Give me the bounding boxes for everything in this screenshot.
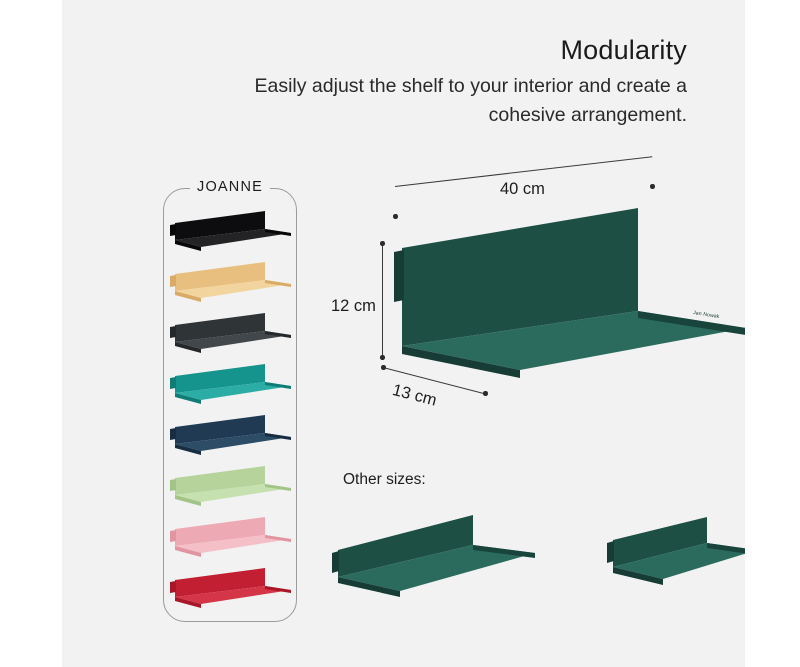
color-swatch-black[interactable]: [167, 209, 295, 253]
other-size-shelf-wide: [330, 505, 600, 600]
depth-dimension-endpoint-start: [381, 365, 386, 370]
width-dimension-endpoint-right: [650, 184, 655, 189]
depth-dimension-endpoint-end: [483, 391, 488, 396]
height-dimension-label: 12 cm: [331, 297, 376, 316]
content-canvas: Modularity Easily adjust the shelf to yo…: [62, 0, 745, 667]
infographic-page: Modularity Easily adjust the shelf to yo…: [0, 0, 800, 667]
color-swatch-pink[interactable]: [167, 515, 295, 559]
other-size-shelf-narrow: [605, 505, 745, 600]
page-subtitle: Easily adjust the shelf to your interior…: [217, 72, 687, 129]
width-dimension-endpoint-left: [393, 214, 398, 219]
color-swatch-navy[interactable]: [167, 413, 295, 457]
color-swatch-gold[interactable]: [167, 260, 295, 304]
color-swatch-red[interactable]: [167, 566, 295, 610]
height-dimension-endpoint-bottom: [380, 355, 385, 360]
main-shelf-illustration: Jan Nowak: [380, 196, 745, 386]
color-swatch-list: [164, 189, 296, 621]
color-swatch-light-green[interactable]: [167, 464, 295, 508]
color-swatch-dark-gray[interactable]: [167, 311, 295, 355]
width-dimension-label: 40 cm: [500, 180, 545, 199]
height-dimension-line: [382, 243, 383, 357]
height-dimension-endpoint-top: [380, 241, 385, 246]
other-sizes-label: Other sizes:: [343, 471, 426, 489]
color-variant-panel: JOANNE: [163, 188, 297, 622]
heading-block: Modularity Easily adjust the shelf to yo…: [217, 34, 687, 129]
color-swatch-teal[interactable]: [167, 362, 295, 406]
page-title: Modularity: [217, 34, 687, 66]
